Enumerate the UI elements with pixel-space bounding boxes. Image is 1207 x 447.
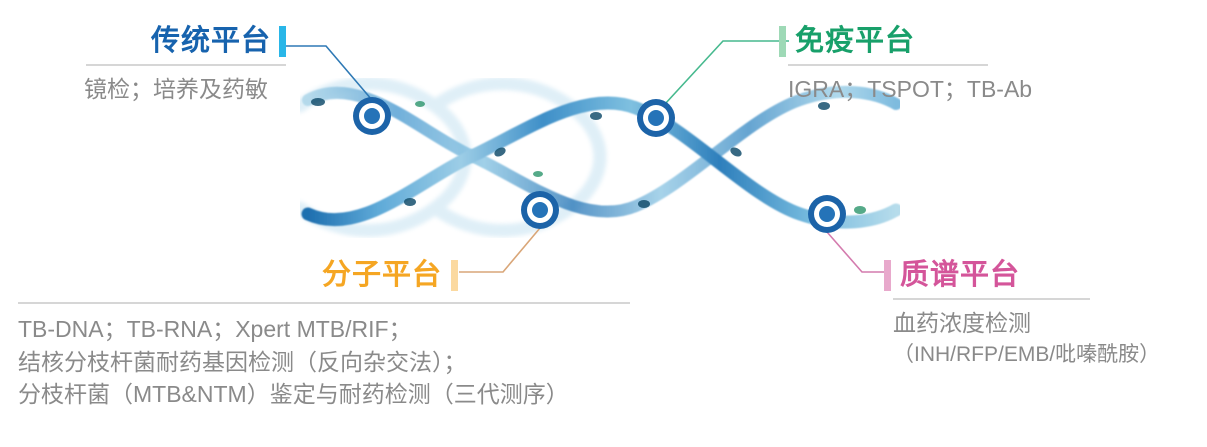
accent-bar-immune bbox=[779, 26, 786, 57]
accent-bar-molecular bbox=[451, 260, 458, 291]
desc-line: （INH/RFP/EMB/吡嗪酰胺） bbox=[893, 340, 1160, 370]
desc-line: TB-DNA；TB-RNA；Xpert MTB/RIF； bbox=[18, 313, 630, 346]
marker-dot bbox=[364, 108, 380, 124]
divider-molecular bbox=[18, 302, 630, 304]
connector-traditional bbox=[286, 46, 372, 100]
platform-title-row: 质谱平台 bbox=[884, 256, 1160, 294]
marker-massspec[interactable] bbox=[808, 195, 846, 233]
desc-line: 镜检；培养及药敏 bbox=[84, 73, 286, 106]
accent-bar-massspec bbox=[884, 260, 891, 291]
marker-traditional[interactable] bbox=[353, 97, 391, 135]
platform-block-traditional: 传统平台 镜检；培养及药敏 bbox=[84, 22, 286, 106]
marker-dot bbox=[819, 206, 835, 222]
marker-ring-gap bbox=[814, 201, 840, 227]
platform-desc-massspec: 血药浓度检测 （INH/RFP/EMB/吡嗪酰胺） bbox=[893, 307, 1160, 369]
desc-line: 分枝杆菌（MTB&NTM）鉴定与耐药检测（三代测序） bbox=[18, 378, 630, 411]
marker-dot bbox=[532, 202, 548, 218]
marker-molecular[interactable] bbox=[521, 191, 559, 229]
platform-title-row: 免疫平台 bbox=[779, 22, 1032, 60]
platform-title-immune: 免疫平台 bbox=[795, 27, 915, 56]
marker-ring-gap bbox=[527, 197, 553, 223]
platform-block-immune: 免疫平台 IGRA；TSPOT；TB-Ab bbox=[779, 22, 1032, 106]
connector-immune bbox=[665, 41, 789, 104]
divider-massspec bbox=[893, 298, 1090, 300]
desc-line: 结核分枝杆菌耐药基因检测（反向杂交法）； bbox=[18, 346, 630, 379]
platform-title-massspec: 质谱平台 bbox=[900, 261, 1020, 290]
marker-immune[interactable] bbox=[637, 99, 675, 137]
divider-immune bbox=[788, 64, 988, 66]
marker-dot bbox=[648, 110, 664, 126]
platform-desc-traditional: 镜检；培养及药敏 bbox=[84, 73, 286, 106]
platform-desc-immune: IGRA；TSPOT；TB-Ab bbox=[788, 73, 1032, 106]
desc-line: IGRA；TSPOT；TB-Ab bbox=[788, 73, 1032, 106]
marker-ring-gap bbox=[643, 105, 669, 131]
infographic-canvas: 传统平台 镜检；培养及药敏 免疫平台 IGRA；TSPOT；TB-Ab 分子平台… bbox=[0, 0, 1207, 447]
divider-traditional bbox=[86, 64, 286, 66]
platform-block-molecular: 分子平台 TB-DNA；TB-RNA；Xpert MTB/RIF； 结核分枝杆菌… bbox=[18, 256, 630, 411]
desc-line: 血药浓度检测 bbox=[893, 307, 1160, 340]
accent-bar-traditional bbox=[279, 26, 286, 57]
connector-massspec bbox=[827, 232, 891, 272]
platform-title-row: 分子平台 bbox=[18, 256, 458, 294]
platform-desc-molecular: TB-DNA；TB-RNA；Xpert MTB/RIF； 结核分枝杆菌耐药基因检… bbox=[18, 313, 630, 411]
marker-ring-gap bbox=[359, 103, 385, 129]
platform-block-massspec: 质谱平台 血药浓度检测 （INH/RFP/EMB/吡嗪酰胺） bbox=[884, 256, 1160, 369]
platform-title-traditional: 传统平台 bbox=[151, 27, 271, 56]
platform-title-row: 传统平台 bbox=[84, 22, 286, 60]
platform-title-molecular: 分子平台 bbox=[322, 261, 442, 290]
